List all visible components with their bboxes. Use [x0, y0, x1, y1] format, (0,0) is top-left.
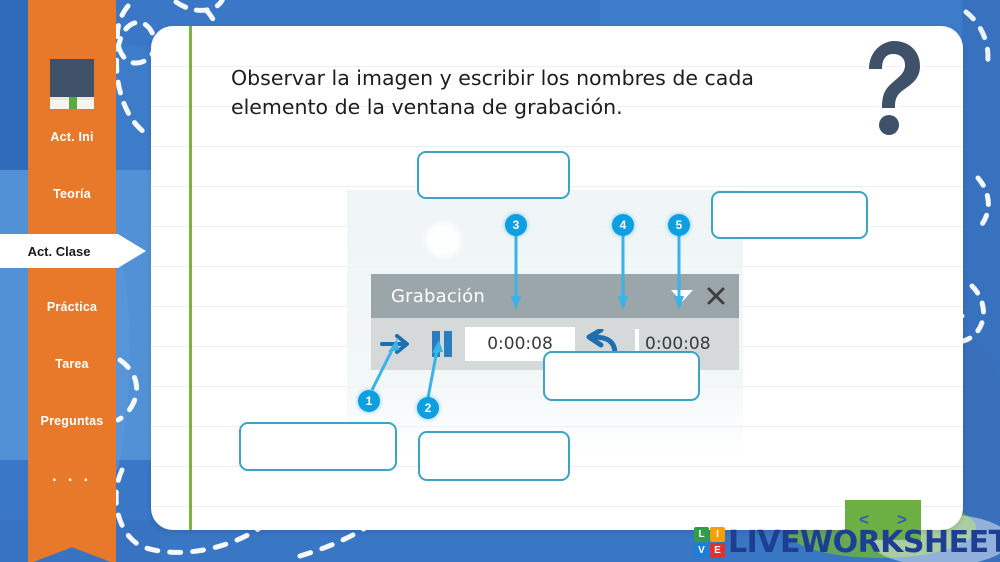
- answer-input-1[interactable]: [239, 422, 397, 471]
- close-icon[interactable]: [707, 287, 725, 305]
- liveworksheets-logo: L I V E LIVEWORKSHEETS: [694, 524, 1000, 560]
- page-title: Observar la imagen y escribir los nombre…: [231, 64, 831, 122]
- sidebar-item-tarea[interactable]: Tarea: [28, 357, 116, 371]
- callout-number-4: 4: [612, 214, 634, 236]
- logo-tile-l: L: [694, 527, 709, 542]
- logo-tile-v: V: [694, 543, 709, 558]
- paper-margin-line: [189, 26, 192, 530]
- sidebar-item-act-clase-label: Act. Clase: [0, 234, 118, 268]
- figure-highlight-blob: [425, 222, 461, 258]
- logo-letter-tiles: L I V E: [694, 527, 725, 558]
- sidebar-item-more[interactable]: · · ·: [28, 472, 116, 490]
- logo-tile-i: I: [710, 527, 725, 542]
- answer-input-4[interactable]: [543, 351, 700, 401]
- logo-tile-e: E: [710, 543, 725, 558]
- callout-number-5: 5: [668, 214, 690, 236]
- sidebar-item-teoria[interactable]: Teoría: [28, 187, 116, 201]
- sidebar-item-preguntas[interactable]: Preguntas: [28, 414, 116, 428]
- sidebar-item-act-clase[interactable]: Act. Clase: [0, 234, 146, 268]
- pause-icon[interactable]: [419, 318, 465, 370]
- callout-number-3: 3: [505, 214, 527, 236]
- book-icon: [47, 57, 97, 113]
- callout-number-2: 2: [417, 397, 439, 419]
- answer-input-3[interactable]: [417, 151, 570, 199]
- forward-arrow-icon[interactable]: [371, 318, 419, 370]
- recording-window-titlebar: Grabación: [371, 274, 739, 318]
- answer-input-5[interactable]: [711, 191, 868, 239]
- sidebar-item-act-ini[interactable]: Act. Ini: [28, 130, 116, 144]
- callout-number-1: 1: [358, 390, 380, 412]
- dropdown-triangle-icon[interactable]: [671, 290, 693, 302]
- worksheet-page: Observar la imagen y escribir los nombre…: [0, 0, 1000, 562]
- sidebar-item-practica[interactable]: Práctica: [28, 300, 116, 314]
- answer-input-2[interactable]: [418, 431, 570, 481]
- logo-wordmark: LIVEWORKSHEETS: [728, 525, 1000, 560]
- recording-window-title: Grabación: [391, 286, 485, 307]
- question-mark-icon: [851, 40, 929, 144]
